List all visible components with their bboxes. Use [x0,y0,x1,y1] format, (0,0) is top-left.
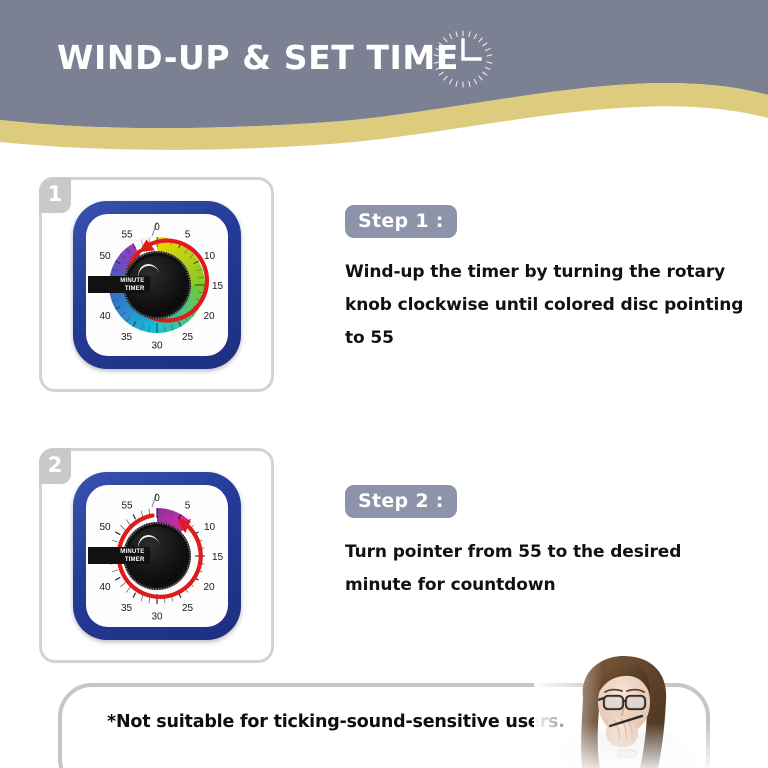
dial-num-35: 35 [120,603,132,614]
minute-label-line2: TIMER [88,556,145,564]
dial-num-30: 30 [151,340,163,351]
step-number-badge-1: 1 [39,177,71,213]
clock-icon [432,28,494,90]
timer-minute-label-2: MINUTE TIMER [88,547,150,564]
dial-num-55: 55 [121,229,133,240]
step-card-1: 1 [39,177,274,392]
step-text-block-1: Step 1 : Wind-up the timer by turning th… [345,205,745,355]
header-banner: WIND-UP & SET TIME [0,0,768,152]
step-pill-1: Step 1 : [345,205,457,238]
footer-note-text: *Not suitable for ticking-sound-sensitiv… [107,712,565,732]
dial-num-15: 15 [211,552,223,563]
woman-thinking-photo [534,654,716,768]
minute-label-line2: TIMER [88,285,145,293]
infographic-page: WIND-UP & SET TIME 1 [0,0,768,768]
timer-device-2[interactable]: 0 5 10 15 20 25 30 35 40 45 50 55 [73,472,241,640]
dial-num-20: 20 [203,582,215,593]
dial-num-25: 25 [181,603,193,614]
minute-label-line1: MINUTE [88,277,145,285]
dial-num-0: 0 [154,493,160,504]
minute-label-line1: MINUTE [88,548,145,556]
dial-num-25: 25 [181,332,193,343]
dial-num-40: 40 [99,311,111,322]
step-description-1: Wind-up the timer by turning the rotary … [345,256,745,355]
timer-minute-label-1: MINUTE TIMER [88,276,150,293]
dial-num-10: 10 [203,522,215,533]
step-number-badge-2: 2 [39,448,71,484]
page-title: WIND-UP & SET TIME [57,38,459,77]
dial-num-5: 5 [184,229,190,240]
dial-num-50: 50 [99,251,111,262]
dial-num-35: 35 [120,332,132,343]
dial-num-0: 0 [154,222,160,233]
step-text-block-2: Step 2 : Turn pointer from 55 to the des… [345,485,745,602]
step-description-2: Turn pointer from 55 to the desired minu… [345,536,745,602]
dial-num-30: 30 [151,611,163,622]
dial-num-15: 15 [211,281,223,292]
timer-face-2: 0 5 10 15 20 25 30 35 40 45 50 55 [86,485,228,627]
step-card-2: 2 [39,448,274,663]
dial-num-5: 5 [184,500,190,511]
timer-device-1[interactable]: 0 5 10 15 20 25 30 35 40 45 50 55 [73,201,241,369]
dial-num-40: 40 [99,582,111,593]
timer-face-1: 0 5 10 15 20 25 30 35 40 45 50 55 [86,214,228,356]
dial-num-20: 20 [203,311,215,322]
dial-num-10: 10 [203,251,215,262]
dial-num-55: 55 [121,500,133,511]
dial-num-50: 50 [99,522,111,533]
step-pill-2: Step 2 : [345,485,457,518]
